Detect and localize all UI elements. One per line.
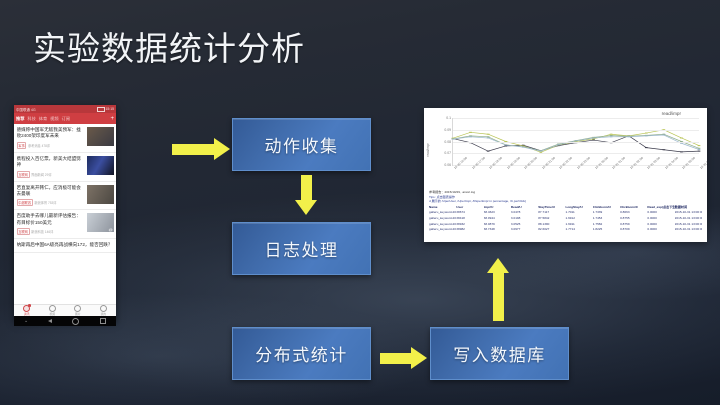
news-thumbnail: @ — [87, 213, 114, 232]
chart-gridline — [453, 118, 699, 119]
news-tag: 中超联赛 — [17, 199, 33, 206]
table-cell: galleru_keyword-20151030-1.3 — [429, 221, 456, 227]
chart-plot: 0.060.070.080.090.110-30 16:0010-30 17:0… — [452, 118, 699, 166]
arrow-shaft — [172, 144, 214, 155]
chart-data-point — [469, 132, 472, 133]
news-thumbnail — [87, 185, 114, 204]
chart-data-point — [487, 151, 490, 152]
flow-box-action-collect[interactable]: 动作收集 — [232, 118, 371, 171]
table-cell: 1.8225 — [593, 227, 620, 233]
chart-data-point — [627, 136, 630, 137]
chart-xtick: 10-31 06:00 — [699, 155, 707, 169]
chart-data-point — [698, 148, 701, 149]
news-text: 德媒称中国军无敌我美预军：挫败2400架印度军未来 军事 参考消息 478评 — [17, 127, 85, 149]
chart-data-point — [592, 138, 595, 139]
back-icon[interactable] — [48, 319, 52, 323]
chart-data-point — [504, 145, 507, 146]
news-text: 纳斯再后中国6A级亮再战横向172，能否回跌？ — [17, 242, 114, 248]
chart-data-point — [662, 149, 665, 150]
tabbar-label: 视频 — [49, 312, 55, 316]
phone-tab-2[interactable]: 体育 — [39, 116, 47, 122]
news-title: 德媒称中国军无敌我美预军：挫败2400架印度军未来 — [17, 127, 85, 140]
arrow-right-icon — [380, 347, 427, 369]
chart-data-point — [680, 137, 683, 138]
chart-data-point — [680, 143, 683, 144]
chart-gridline — [453, 130, 699, 131]
tabbar-label: 图片 — [75, 312, 81, 316]
tabbar-item-news[interactable]: 资讯 — [14, 305, 40, 317]
phone-tab-3[interactable]: 视频 — [50, 116, 58, 122]
chart-data-point — [610, 136, 613, 137]
table-cell: galleru_keyword-20151030-1.4 — [429, 227, 456, 233]
chart-data-point — [645, 135, 648, 136]
table-cell: 0.0000 — [647, 227, 674, 233]
news-meta: 互联网 新浪科技 146评 — [17, 228, 85, 235]
table-body: galleru_keyword-20151030-1.13867438.4623… — [429, 209, 702, 232]
chart-title: read/impr — [662, 111, 681, 116]
add-channel-icon[interactable]: + — [110, 116, 114, 122]
table-cell: 38982 — [456, 227, 483, 233]
tabbar-item-video[interactable]: 视频 — [40, 305, 66, 317]
phone-tab-1[interactable]: 科技 — [27, 116, 35, 122]
chart-data-point — [539, 151, 542, 152]
news-source: 新浪科技 146评 — [31, 229, 53, 234]
list-item[interactable]: 德媒称中国军无敌我美预军：挫败2400架印度军未来 军事 参考消息 478评 — [14, 124, 116, 153]
chart-data-point — [592, 140, 595, 141]
chart-data-point — [592, 137, 595, 138]
chart-data-point — [610, 134, 613, 135]
chart-data-point — [698, 151, 701, 152]
news-text: 携程投入百亿票，新美大结盟劈神 互联网 界面新闻 29评 — [17, 156, 85, 178]
chart-area: read/impr read/impr 0.060.070.080.090.11… — [424, 108, 707, 188]
chart-data-point — [487, 137, 490, 138]
tabbar-label: 资讯 — [24, 312, 30, 316]
list-item[interactable]: 若直复离开韩仁，应消极可能会去曼联 中超联赛 新浪体育 753评 — [14, 182, 116, 211]
flow-box-distributed-stats[interactable]: 分布式统计 — [232, 327, 371, 380]
table-cell: 2015-10-31 13:00:00 — [675, 209, 702, 215]
chart-ylabel: read/impr — [426, 143, 430, 156]
news-tag: 互联网 — [17, 228, 30, 235]
photo-icon — [74, 305, 81, 312]
arrow-shaft — [493, 273, 504, 321]
chart-series-line — [453, 136, 699, 152]
news-source: 参考消息 478评 — [28, 143, 50, 148]
phone-mockup: 中国联通 4G 15:15 推荐 科技 体育 视频 订阅 + 德媒称中国军无敌我… — [14, 105, 116, 321]
news-title: 若直复离开韩仁，应消极可能会去曼联 — [17, 185, 85, 198]
table-cell: 38.7348 — [484, 227, 511, 233]
table-cell: 2015-10-31 13:00:00 — [675, 227, 702, 233]
news-meta: 军事 参考消息 478评 — [17, 142, 85, 149]
tabbar-item-photo[interactable]: 图片 — [65, 305, 91, 317]
slide-canvas: 实验数据统计分析 中国联通 4G 15:15 推荐 科技 体育 视频 订阅 + … — [0, 0, 720, 405]
status-right: 15:15 — [97, 107, 115, 112]
table-cell: 1.7714 — [565, 227, 592, 233]
chart-ytick: 0.06 — [444, 163, 451, 167]
news-meta: 互联网 界面新闻 29评 — [17, 171, 85, 178]
chart-data-point — [662, 135, 665, 136]
chart-data-point — [680, 151, 683, 152]
arrow-shaft — [301, 175, 312, 200]
news-title: 纳斯再后中国6A级亮再战横向172，能否回跌？ — [17, 242, 114, 248]
phone-channel-tabs[interactable]: 推荐 科技 体育 视频 订阅 + — [14, 113, 116, 124]
tabbar-label: 我的 — [100, 312, 106, 316]
table-row[interactable]: galleru_keyword-20151030-1.43898238.7348… — [429, 227, 702, 233]
arrow-right-icon — [172, 138, 230, 160]
chart-data-point — [469, 136, 472, 137]
news-thumbnail — [87, 127, 114, 146]
news-title: 百度助手去哪儿最新评估报告：有目标价150美元 — [17, 213, 85, 226]
report-table-wrap: 参考报告：2015/10/29, .ainori.log Tips: 点击图表操… — [424, 188, 707, 233]
chart-data-point — [610, 135, 613, 136]
report-table[interactable]: NameUserImpr/URead/UStayTime/ULongStay/U… — [429, 205, 702, 233]
news-icon — [23, 305, 30, 312]
flow-box-log-processing[interactable]: 日志处理 — [232, 222, 371, 275]
table-cell: galleru_keyword-20151030-1.2 — [429, 215, 456, 221]
phone-news-list[interactable]: 德媒称中国军无敌我美预军：挫败2400架印度军未来 军事 参考消息 478评 携… — [14, 124, 116, 304]
arrow-head — [411, 347, 427, 369]
chart-ytick: 0.1 — [446, 116, 451, 120]
news-title: 携程投入百亿票，新美大结盟劈神 — [17, 156, 85, 169]
chart-data-point — [487, 136, 490, 137]
news-thumbnail — [87, 156, 114, 175]
news-text: 若直复离开韩仁，应消极可能会去曼联 中超联赛 新浪体育 753评 — [17, 185, 85, 207]
chart-data-point — [452, 139, 455, 140]
list-item[interactable]: 百度助手去哪儿最新评估报告：有目标价150美元 互联网 新浪科技 146评 @ — [14, 210, 116, 239]
report-panel[interactable]: read/impr read/impr 0.060.070.080.090.11… — [424, 108, 707, 242]
news-tag: 军事 — [17, 142, 27, 149]
tabbar-item-profile[interactable]: 我的 — [91, 305, 117, 317]
news-source: 界面新闻 29评 — [31, 172, 51, 177]
flow-box-write-database[interactable]: 写入数据库 — [430, 327, 569, 380]
arrow-shaft — [380, 353, 411, 364]
video-icon — [49, 305, 56, 312]
status-carrier: 中国联通 4G — [16, 107, 36, 112]
report-meta-2: d 展示的 /UperUser, /UperImpr, /Rspertimpr … — [429, 199, 702, 204]
chart-data-point — [698, 149, 701, 150]
list-item[interactable]: 纳斯再后中国6A级亮再战横向172，能否回跌？ — [14, 239, 116, 252]
arrow-head — [295, 200, 317, 215]
android-nav-bar[interactable]: ⌄ — [14, 316, 116, 326]
page-title: 实验数据统计分析 — [33, 22, 305, 70]
arrow-head — [214, 138, 230, 160]
person-icon — [100, 305, 107, 312]
thumb-badge: @ — [109, 227, 113, 232]
table-cell: 82.6027 — [538, 227, 565, 233]
chart-data-point — [469, 135, 472, 136]
list-item[interactable]: 携程投入百亿票，新美大结盟劈神 互联网 界面新闻 29评 — [14, 153, 116, 182]
phone-status-bar: 中国联通 4G 15:15 — [14, 105, 116, 113]
chart-ytick: 0.08 — [444, 140, 451, 144]
chart-data-point — [645, 133, 648, 134]
chart-data-point — [522, 147, 525, 148]
phone-tab-4[interactable]: 订阅 — [62, 116, 70, 122]
phone-tab-0[interactable]: 推荐 — [16, 116, 24, 122]
table-cell: galleru_keyword-20151030-1.1 — [429, 209, 456, 215]
status-time: 15:15 — [106, 107, 115, 111]
table-cell: 3.0977 — [511, 227, 538, 233]
battery-icon — [97, 107, 105, 112]
chart-data-point — [698, 145, 701, 146]
news-source: 新浪体育 753评 — [34, 200, 56, 205]
chart-data-point — [487, 134, 490, 135]
table-column-header[interactable]: Read_exp(点击下生效) — [647, 205, 674, 210]
news-meta: 中超联赛 新浪体育 753评 — [17, 199, 85, 206]
arrow-head — [487, 258, 509, 273]
chart-data-point — [557, 144, 560, 145]
table-cell: 2015-10-31 13:00:00 — [675, 215, 702, 221]
chart-ytick: 0.09 — [444, 128, 451, 132]
menu-icon[interactable]: ⌄ — [24, 318, 28, 324]
chart-gridline — [453, 142, 699, 143]
badge-dot — [28, 304, 31, 307]
table-cell: 0.8709 — [620, 227, 647, 233]
arrow-up-icon — [487, 258, 509, 321]
chart-data-point — [504, 145, 507, 146]
chart-data-point — [645, 147, 648, 148]
chart-ytick: 0.07 — [444, 151, 451, 155]
phone-tabbar[interactable]: 资讯 视频 图片 我的 — [14, 304, 116, 316]
news-text: 百度助手去哪儿最新评估报告：有目标价150美元 互联网 新浪科技 146评 — [17, 213, 85, 235]
chart-gridline — [453, 153, 699, 154]
arrow-down-icon — [295, 175, 317, 215]
table-cell: 2015-10-31 13:00:00 — [675, 221, 702, 227]
news-tag: 互联网 — [17, 171, 30, 178]
home-icon[interactable] — [72, 318, 79, 325]
recents-icon[interactable] — [100, 318, 106, 324]
